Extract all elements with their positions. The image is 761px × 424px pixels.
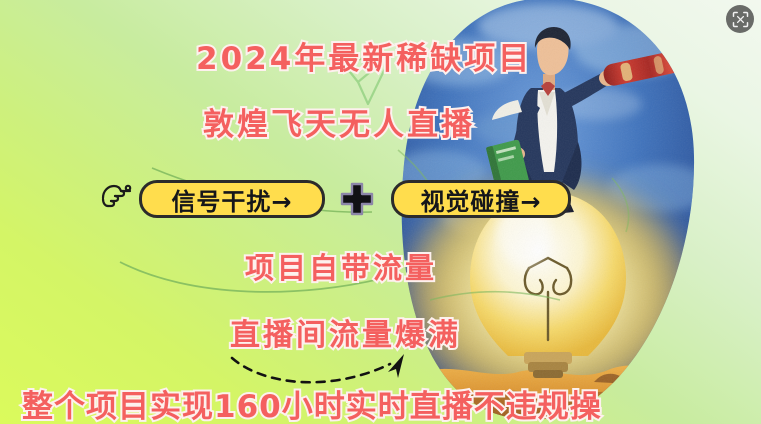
scan-frame-icon (732, 11, 749, 28)
claim-line-3: 整个项目实现160小时实时直播不违规操 (22, 381, 602, 424)
badge-signal-interference[interactable]: 信号干扰→ (139, 180, 325, 218)
claim-line-2: 直播间流量爆满 (230, 310, 461, 354)
poster-canvas: 2024年最新稀缺项目 敦煌飞天无人直播 信号干扰→ 视觉碰撞→ 项目自带流量 … (0, 0, 761, 424)
pointing-hand-icon (99, 180, 133, 214)
scan-frame-button[interactable] (726, 5, 754, 33)
claim-line-1: 项目自带流量 (245, 245, 437, 287)
page-title-line-1: 2024年最新稀缺项目 (196, 33, 532, 78)
page-title-line-2: 敦煌飞天无人直播 (203, 99, 475, 144)
badge-visual-impact[interactable]: 视觉碰撞→ (391, 180, 571, 218)
plus-symbol-icon (339, 181, 375, 217)
